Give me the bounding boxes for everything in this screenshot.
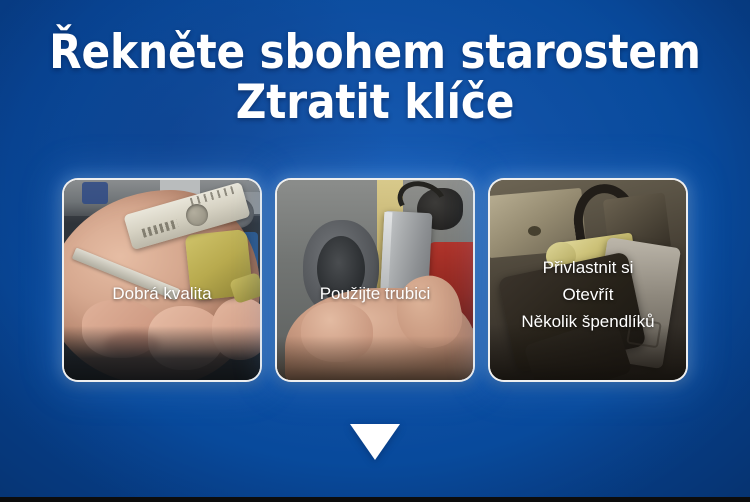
- feature-card-tube[interactable]: Použijte trubici: [275, 178, 475, 382]
- card-caption-quality: Dobrá kvalita: [64, 280, 260, 307]
- page-title: Řekněte sbohem starostem Ztratit klíče: [38, 28, 713, 128]
- bottom-bar: [0, 497, 750, 502]
- promo-banner: Řekněte sbohem starostem Ztratit klíče: [0, 0, 750, 502]
- feature-card-row: Dobrá kvalita Použijte trubic: [62, 178, 688, 378]
- triangle-down-icon[interactable]: [350, 424, 400, 460]
- feature-card-pins[interactable]: Přivlastnit si Otevřít Několik špendlíků: [488, 178, 688, 382]
- card-caption-pins: Přivlastnit si Otevřít Několik špendlíků: [490, 254, 686, 335]
- feature-card-quality[interactable]: Dobrá kvalita: [62, 178, 262, 382]
- page-title-line-2: Ztratit klíče: [38, 78, 713, 128]
- card-caption-tube: Použijte trubici: [277, 280, 473, 307]
- page-title-line-1: Řekněte sbohem starostem: [38, 28, 713, 78]
